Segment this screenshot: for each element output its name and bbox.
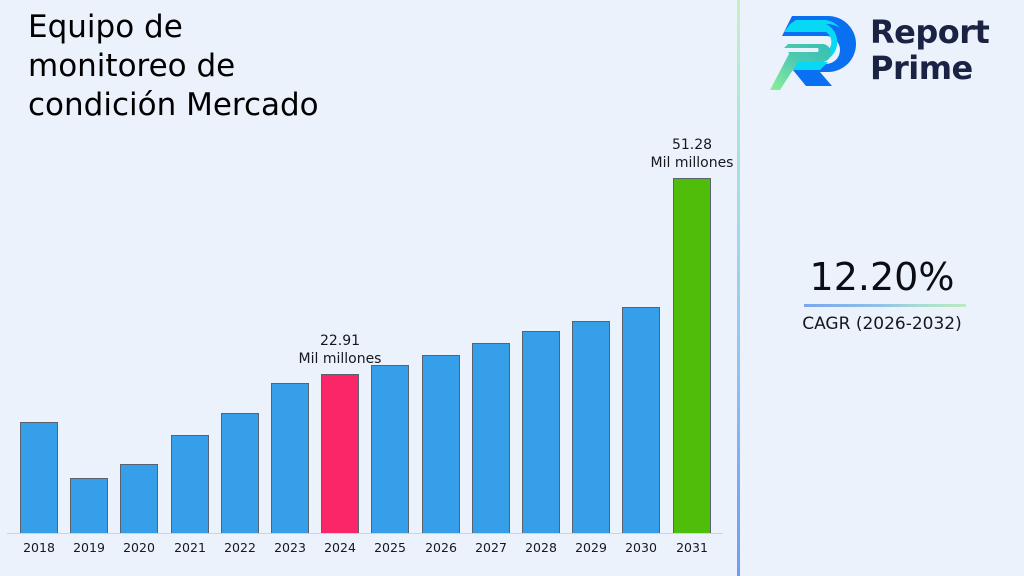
cagr-caption: CAGR (2026-2032) — [740, 312, 1024, 336]
logo-word-prime: Prime — [870, 50, 1024, 86]
bar-2018 — [20, 422, 58, 533]
x-axis-line — [7, 533, 723, 534]
bar-2029 — [572, 321, 610, 533]
report-prime-logo: Report Prime — [770, 10, 1020, 96]
report-prime-r-mark — [770, 12, 862, 92]
x-tick-2021: 2021 — [165, 540, 215, 555]
x-tick-2019: 2019 — [64, 540, 114, 555]
x-tick-2028: 2028 — [516, 540, 566, 555]
bar-chart: Equipo de monitoreo de condición Mercado… — [0, 0, 737, 576]
bar-2019 — [70, 478, 108, 533]
cagr-underline — [804, 304, 966, 307]
bar-2021 — [171, 435, 209, 533]
slide-root: Equipo de monitoreo de condición Mercado… — [0, 0, 1024, 576]
bar-2030 — [622, 307, 660, 533]
bar-2025 — [371, 365, 409, 533]
x-tick-2022: 2022 — [215, 540, 265, 555]
right-panel: Report Prime 12.20% CAGR (2026-2032) — [740, 0, 1024, 576]
bar-2031 — [673, 178, 711, 533]
x-tick-2026: 2026 — [416, 540, 466, 555]
x-tick-2018: 2018 — [14, 540, 64, 555]
x-tick-2020: 2020 — [114, 540, 164, 555]
callout-2024: 22.91 Mil millones — [260, 332, 420, 368]
bar-2023 — [271, 383, 309, 533]
bar-2026 — [422, 355, 460, 533]
bar-2020 — [120, 464, 158, 533]
x-tick-2027: 2027 — [466, 540, 516, 555]
x-tick-2025: 2025 — [365, 540, 415, 555]
logo-wordmark: Report Prime — [870, 14, 1024, 86]
bar-2028 — [522, 331, 560, 533]
x-tick-2029: 2029 — [566, 540, 616, 555]
bar-2022 — [221, 413, 259, 533]
x-tick-2024: 2024 — [315, 540, 365, 555]
cagr-value: 12.20% — [740, 255, 1024, 299]
page-title: Equipo de monitoreo de condición Mercado — [28, 8, 448, 125]
x-tick-2031: 2031 — [667, 540, 717, 555]
x-tick-2023: 2023 — [265, 540, 315, 555]
x-tick-2030: 2030 — [616, 540, 666, 555]
bar-2024 — [321, 374, 359, 533]
logo-word-report: Report — [870, 14, 1024, 50]
bar-2027 — [472, 343, 510, 533]
